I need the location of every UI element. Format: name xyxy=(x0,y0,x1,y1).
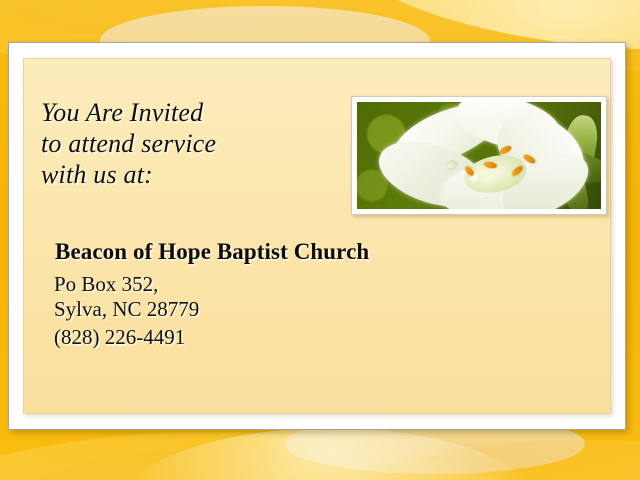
organization-name: Beacon of Hope Baptist Church xyxy=(55,238,369,265)
easter-lily-photo xyxy=(357,102,601,209)
phone-number: (828) 226-4491 xyxy=(54,325,185,350)
photo-frame xyxy=(351,96,607,215)
invitation-headline: You Are Invited to attend service with u… xyxy=(41,97,216,190)
mailing-address: Po Box 352, Sylva, NC 28779 xyxy=(54,272,199,322)
invitation-slide: You Are Invited to attend service with u… xyxy=(0,0,640,480)
